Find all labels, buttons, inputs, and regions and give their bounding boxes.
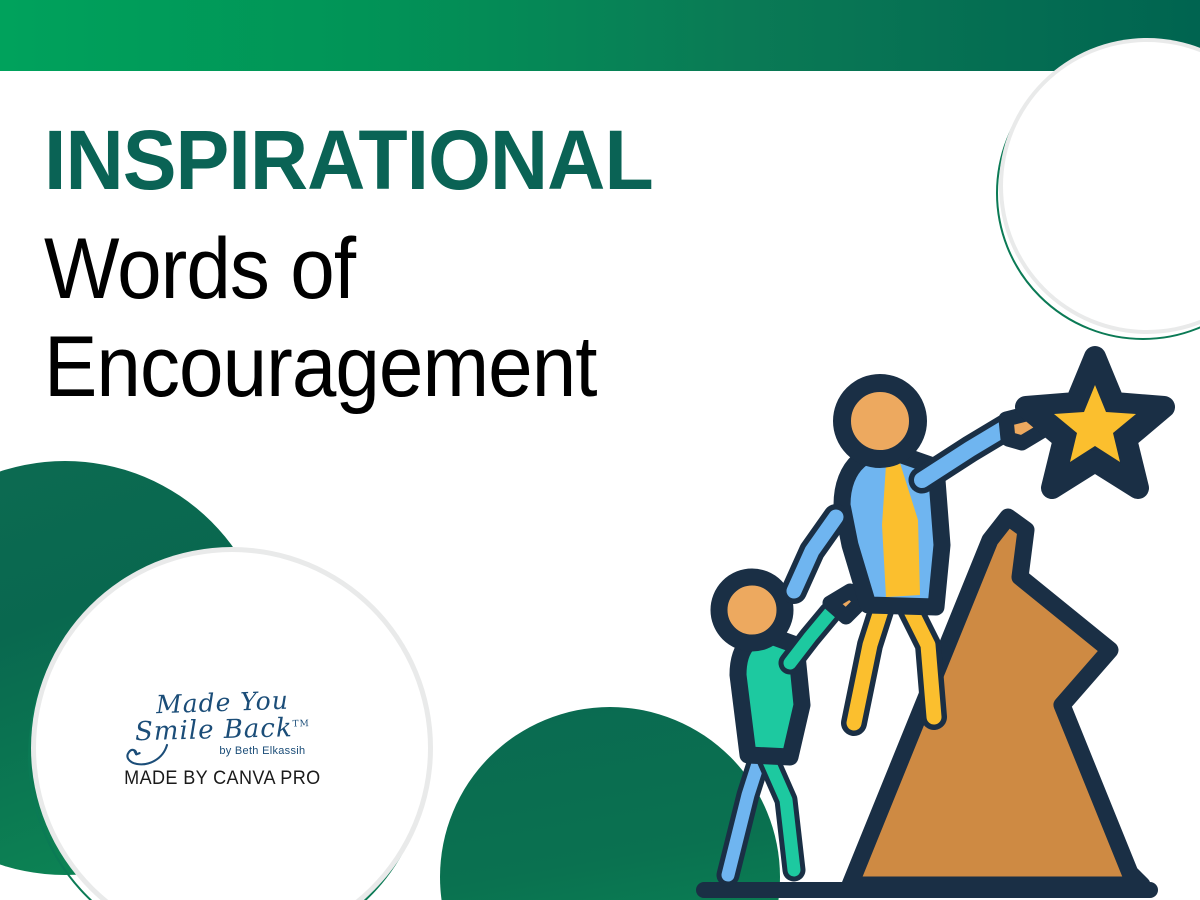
top-gradient-bar bbox=[0, 0, 1200, 71]
brand-logo-script: Made You Smile BackTM by Beth Elkassih bbox=[135, 690, 310, 757]
subtitle-group: Words of Encouragement bbox=[44, 220, 678, 416]
subtitle-line-2: Encouragement bbox=[44, 318, 634, 416]
brand-logo-block: Made You Smile BackTM by Beth Elkassih M… bbox=[72, 690, 372, 790]
subtitle-line-1: Words of bbox=[44, 220, 634, 318]
poster-canvas: INSPIRATIONAL Words of Encouragement Mad… bbox=[0, 0, 1200, 900]
made-by-canva-label: MADE BY CANVA PRO bbox=[124, 768, 320, 790]
logo-script-line-2-text: Smile Back bbox=[134, 713, 292, 747]
achievement-star bbox=[1026, 357, 1164, 488]
trademark-symbol: TM bbox=[292, 719, 309, 729]
page-title: INSPIRATIONAL bbox=[44, 118, 653, 202]
mountain-climbers-illustration bbox=[690, 345, 1200, 900]
lower-climber bbox=[719, 577, 862, 875]
headline-group: INSPIRATIONAL Words of Encouragement bbox=[44, 118, 678, 416]
logo-script-line-2: Smile BackTM bbox=[134, 715, 310, 746]
